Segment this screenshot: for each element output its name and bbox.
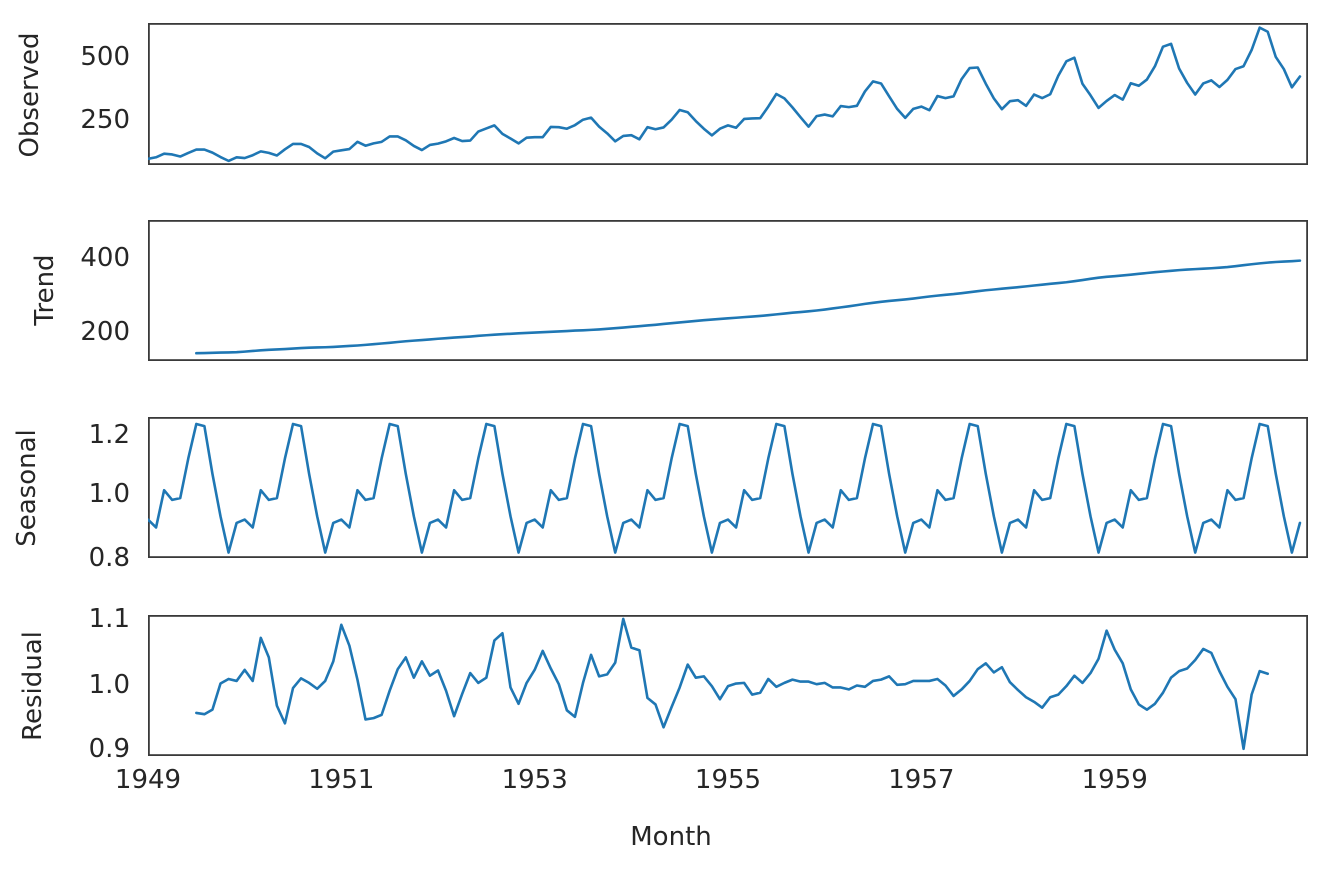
xtick-label-1953: 1953 [475,765,595,795]
observed-ytick-500: 500 [30,42,130,72]
observed-ytick-250: 250 [30,105,130,135]
xtick-label-1955: 1955 [668,765,788,795]
data-line-seasonal [148,424,1300,553]
residual-plot-area [148,615,1308,756]
seasonal-decomposition-figure: Observed 250 500 Trend 200 400 Seasonal … [0,0,1342,872]
observed-axis-label: Observed [15,10,45,180]
panel-trend [148,220,1308,361]
data-line-trend [196,261,1300,354]
seasonal-ytick-12: 1.2 [10,420,130,450]
panel-seasonal [148,417,1308,558]
x-axis-label: Month [0,822,1342,852]
trend-ytick-200: 200 [30,317,130,347]
data-line-observed [148,28,1300,161]
residual-ytick-09: 0.9 [10,734,130,764]
xtick-label-1949: 1949 [88,765,208,795]
residual-ytick-10: 1.0 [10,670,130,700]
axes-spines [149,221,1307,360]
observed-plot-area [148,23,1308,165]
data-line-residual [196,619,1267,749]
panel-residual [148,615,1308,756]
axes-spines [149,24,1307,164]
trend-ytick-400: 400 [30,243,130,273]
xtick-label-1959: 1959 [1055,765,1175,795]
trend-axis-label: Trend [30,205,60,375]
xtick-label-1951: 1951 [281,765,401,795]
seasonal-plot-area [148,417,1308,558]
trend-plot-area [148,220,1308,361]
seasonal-ytick-08: 0.8 [10,543,130,573]
seasonal-ytick-10: 1.0 [10,479,130,509]
residual-ytick-11: 1.1 [10,604,130,634]
xtick-label-1957: 1957 [861,765,981,795]
panel-observed [148,23,1308,165]
